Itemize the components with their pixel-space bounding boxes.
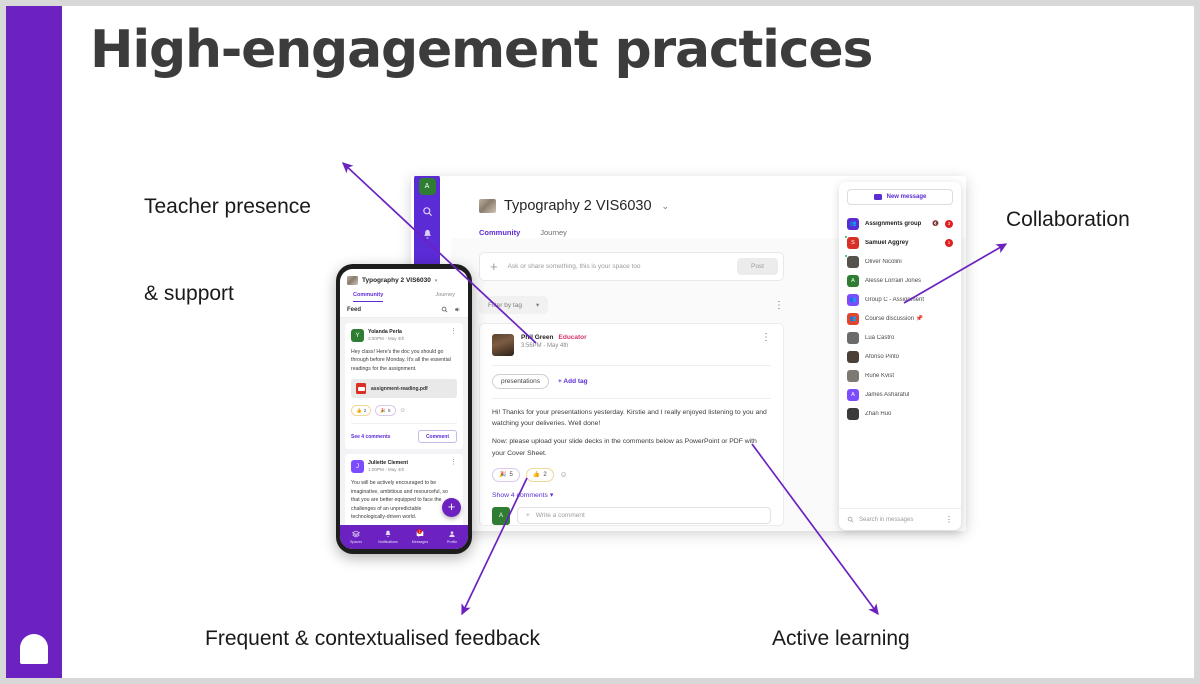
phone-post-footer: See 4 comments Comment	[351, 423, 457, 443]
nav-label: Spaces	[350, 540, 362, 544]
post-header: Phil Green Educator 3:56PM - May 4th ⋮	[492, 334, 771, 356]
bell-icon	[384, 530, 392, 538]
attachment-name: assignment-reading.pdf	[371, 386, 428, 392]
annotation-collaboration: Collaboration	[1006, 206, 1130, 235]
add-tag-label: Add tag	[563, 378, 587, 385]
avatar[interactable]	[492, 334, 514, 356]
arch-logo-icon	[20, 634, 48, 664]
show-comments-label: Show 4 comments	[492, 492, 548, 499]
phone-post-more-icon[interactable]: ⋮	[450, 460, 457, 465]
message-name: Zhan Huo	[865, 411, 953, 417]
status-badge: Educator	[559, 334, 587, 341]
add-reaction-icon[interactable]: ☺	[560, 470, 568, 479]
message-name: Samuel Aggrey	[865, 240, 939, 246]
party-icon: 🎉	[499, 471, 506, 478]
phone-post: Y Yolanda Perla 3:50PM - May 4th ⋮ Hey c…	[345, 323, 463, 449]
status-badge: 1	[945, 239, 953, 247]
tag-row: presentations + Add tag	[492, 374, 771, 389]
avatar: J	[351, 460, 364, 473]
plus-icon: +	[558, 378, 562, 385]
reaction-count: 2	[364, 408, 367, 413]
group-icon: 👥	[847, 218, 859, 230]
message-name: Rune Kvist	[865, 373, 953, 379]
nav-messages[interactable]: 1 Messages	[404, 525, 436, 549]
nav-label: Messages	[412, 540, 428, 544]
tab-community[interactable]: Community	[353, 292, 383, 302]
avatar: A	[847, 275, 859, 287]
list-item[interactable]: 👥 Group C - Assignment	[839, 290, 961, 309]
list-item[interactable]: Afonso Pinto	[839, 347, 961, 366]
list-item[interactable]: A James Asharaful	[839, 385, 961, 404]
reaction-count: 5	[388, 408, 391, 413]
profile-icon	[448, 530, 456, 538]
phone-tabs: Community Journey	[347, 292, 461, 302]
list-item[interactable]: Rune Kvist	[839, 366, 961, 385]
search-icon[interactable]	[420, 204, 434, 218]
status-badge: 3	[945, 220, 953, 228]
list-item[interactable]: Oliver Nicolini	[839, 252, 961, 271]
app-left-rail: A	[414, 176, 440, 272]
page-title: High-engagement practices	[90, 20, 872, 80]
comment-placeholder: Write a comment	[536, 512, 585, 519]
new-message-label: New message	[887, 194, 927, 200]
list-item[interactable]: 👥 Assignments group 🔇 3	[839, 214, 961, 233]
phone-post-timestamp: 1:00PM - May 4th	[368, 467, 408, 472]
annotation-feedback: Frequent & contextualised feedback	[205, 625, 540, 654]
phone-reaction-row: 👍 2 🎉 5 ☺	[351, 405, 457, 416]
reaction-pill[interactable]: 👍 2	[526, 468, 554, 482]
new-message-button[interactable]: New message	[847, 189, 953, 205]
avatar: Y	[351, 329, 364, 342]
message-name: Assignments group	[865, 221, 926, 227]
plus-icon[interactable]: +	[490, 259, 498, 274]
pdf-icon	[356, 383, 366, 394]
avatar	[847, 370, 859, 382]
nav-spaces[interactable]: Spaces	[340, 525, 372, 549]
slide-canvas: High-engagement practices A Typography 2…	[6, 6, 1194, 678]
feed-more-icon[interactable]: ⋮	[774, 302, 784, 309]
online-dot-icon	[844, 254, 848, 258]
nav-label: Notifications	[378, 540, 398, 544]
post-paragraph: Now: please upload your slide decks in t…	[492, 436, 771, 458]
share-composer[interactable]: + Ask or share something, this is your s…	[479, 252, 784, 281]
status-badge: 1	[417, 529, 422, 534]
phone-post-more-icon[interactable]: ⋮	[450, 329, 457, 334]
chevron-down-icon[interactable]: ⌄	[662, 201, 670, 212]
avatar: A	[847, 389, 859, 401]
message-name: Afonso Pinto	[865, 354, 953, 360]
avatar	[847, 351, 859, 363]
thumbs-up-icon: 👍	[533, 471, 540, 478]
message-name: Group C - Assignment	[865, 297, 953, 303]
add-tag-button[interactable]: + Add tag	[558, 378, 588, 385]
feed-label: Feed	[347, 307, 435, 313]
annotation-line: Teacher presence	[144, 193, 311, 222]
comment-button[interactable]: Comment	[418, 430, 457, 443]
phone-feed-bar: Feed	[340, 302, 468, 318]
phone-screen: Typography 2 VIS6030 ▾ Community Journey…	[340, 269, 468, 549]
message-icon	[874, 194, 882, 200]
message-name: James Asharaful	[865, 392, 953, 398]
list-item[interactable]: 👥 Course discussion 📌	[839, 309, 961, 328]
filter-label: Filter by tag	[488, 302, 522, 309]
mute-icon: 🔇	[932, 221, 939, 227]
post-author: Phil Green	[521, 334, 554, 341]
post-paragraph: Hi! Thanks for your presentations yester…	[492, 407, 771, 429]
filter-row: Filter by tag ▾ ⋮	[479, 296, 784, 314]
phone-post-body: You will be actively encouraged to be im…	[351, 479, 457, 521]
search-icon	[847, 516, 854, 523]
chevron-down-icon: ▾	[550, 492, 553, 499]
chevron-down-icon[interactable]: ▾	[435, 278, 438, 284]
space-thumbnail-icon	[479, 199, 496, 213]
list-item[interactable]: A Alesse Lorrain Jones	[839, 271, 961, 290]
filter-by-tag-dropdown[interactable]: Filter by tag ▾	[479, 296, 548, 314]
share-input[interactable]: Ask or share something, this is your spa…	[508, 263, 727, 270]
message-name: Lua Castro	[865, 335, 953, 341]
annotation-line: & support	[144, 280, 311, 309]
reaction-pill[interactable]: 🎉 5	[375, 405, 395, 416]
reaction-count: 2	[543, 472, 546, 478]
avatar	[847, 408, 859, 420]
divider	[492, 398, 771, 399]
annotation-active-learning: Active learning	[772, 625, 910, 654]
post-card: Phil Green Educator 3:56PM - May 4th ⋮ p…	[479, 323, 784, 526]
message-name: Oliver Nicolini	[865, 259, 953, 265]
phone-space-title: Typography 2 VIS6030	[362, 277, 431, 284]
phone-bottom-nav: Spaces Notifications 1 Messages	[340, 525, 468, 549]
list-item[interactable]: S Samuel Aggrey 1	[839, 233, 961, 252]
search-icon[interactable]	[441, 306, 448, 313]
phone-post-timestamp: 3:50PM - May 4th	[368, 336, 404, 341]
phone-post-header: Y Yolanda Perla 3:50PM - May 4th ⋮	[351, 329, 457, 342]
add-reaction-icon[interactable]: ☺	[400, 408, 406, 414]
messages-more-icon[interactable]: ⋮	[945, 516, 953, 523]
nav-profile[interactable]: Profile	[436, 525, 468, 549]
phone-title-row[interactable]: Typography 2 VIS6030 ▾	[347, 276, 461, 285]
list-item[interactable]: Zhan Huo	[839, 404, 961, 423]
space-thumbnail-icon	[347, 276, 358, 285]
new-post-fab-button[interactable]: +	[442, 498, 461, 517]
see-comments-link[interactable]: See 4 comments	[351, 434, 390, 440]
show-comments-link[interactable]: Show 4 comments ▾	[492, 491, 771, 499]
group-icon: 👥	[847, 294, 859, 306]
nav-notifications[interactable]: Notifications	[372, 525, 404, 549]
party-icon: 🎉	[380, 408, 386, 414]
messages-panel: New message 👥 Assignments group 🔇 3 S Sa…	[839, 182, 961, 530]
brand-sidebar	[6, 6, 62, 678]
post-timestamp: 3:56PM - May 4th	[521, 343, 587, 349]
plus-icon: +	[526, 512, 530, 519]
reaction-count: 5	[509, 472, 512, 478]
reaction-pill[interactable]: 👍 2	[351, 405, 371, 416]
tab-journey[interactable]: Journey	[435, 292, 455, 302]
comment-composer: A + Write a comment	[492, 507, 771, 525]
thumbs-up-icon: 👍	[356, 408, 362, 414]
phone-post-header: J Juliette Clement 1:00PM - May 4th ⋮	[351, 460, 457, 473]
post-button[interactable]: Post	[737, 258, 778, 275]
avatar: A	[492, 507, 510, 525]
space-title: Typography 2 VIS6030	[504, 198, 652, 214]
divider	[492, 365, 771, 366]
post-more-icon[interactable]: ⋮	[761, 334, 771, 341]
list-item[interactable]: Lua Castro	[839, 328, 961, 347]
attachment-chip[interactable]: assignment-reading.pdf	[351, 379, 457, 398]
bell-icon[interactable]	[420, 227, 434, 241]
message-list: 👥 Assignments group 🔇 3 S Samuel Aggrey …	[839, 214, 961, 423]
rail-avatar[interactable]: A	[419, 178, 436, 195]
spaces-icon	[352, 530, 360, 538]
group-icon: 👥	[847, 313, 859, 325]
message-name: Alesse Lorrain Jones	[865, 278, 953, 284]
phone-post-author: Juliette Clement	[368, 460, 408, 466]
nav-label: Profile	[447, 540, 457, 544]
volume-icon[interactable]	[454, 306, 461, 313]
post-body: Hi! Thanks for your presentations yester…	[492, 407, 771, 459]
chevron-down-icon: ▾	[536, 301, 539, 309]
reaction-row: 🎉 5 👍 2 ☺	[492, 468, 771, 482]
avatar	[847, 332, 859, 344]
phone-header: Typography 2 VIS6030 ▾ Community Journey	[340, 269, 468, 302]
messages-search-bar[interactable]: Search in messages ⋮	[839, 508, 961, 530]
comment-input[interactable]: + Write a comment	[517, 507, 771, 524]
phone-post-author: Yolanda Perla	[368, 329, 404, 335]
avatar: S	[847, 237, 859, 249]
post-tag[interactable]: presentations	[492, 374, 549, 389]
online-dot-icon	[844, 235, 848, 239]
message-name: Course discussion 📌	[865, 315, 953, 322]
reaction-pill[interactable]: 🎉 5	[492, 468, 520, 482]
phone-post-body: Hey class! Here's the doc you should go …	[351, 348, 457, 373]
phone-mockup: Typography 2 VIS6030 ▾ Community Journey…	[336, 264, 472, 554]
annotation-teacher-presence: Teacher presence & support	[144, 135, 311, 367]
search-input[interactable]: Search in messages	[859, 517, 940, 523]
avatar	[847, 256, 859, 268]
